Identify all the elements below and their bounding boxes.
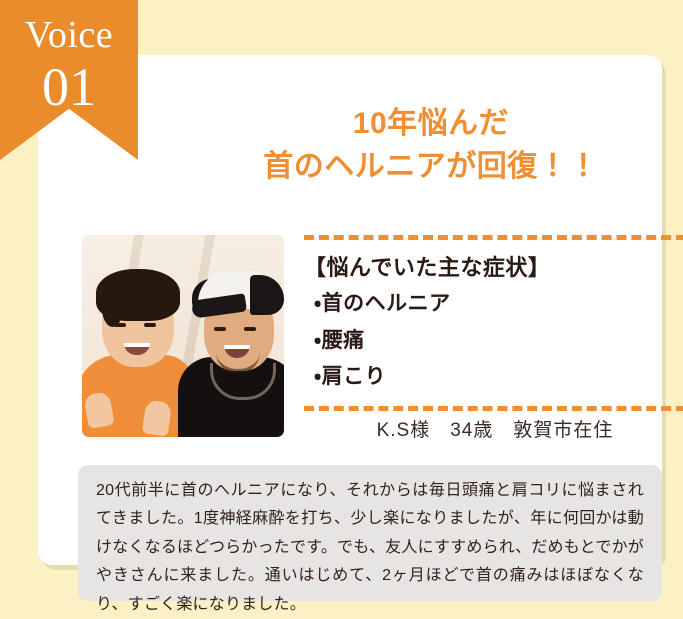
symptoms-panel: 【悩んでいた主な症状】 ・首のヘルニア ・腰痛 ・肩こり [304,235,683,411]
symptom-item-3: ・肩こり [314,361,683,394]
customer-photo [82,235,284,437]
photo-image [82,235,284,437]
person-left-hand-right [142,399,172,436]
headline-line-2: 首のヘルニアが回復！！ [176,146,683,189]
person-left-hair [96,269,180,321]
symptoms-heading: 【悩んでいた主な症状】 [304,250,683,282]
testimonial-text: 20代前半に首のヘルニアになり、それからは毎日頭痛と肩コリに悩まされてきました。… [96,477,644,619]
ribbon-label: Voice [0,0,138,54]
person-right-eye-right [244,327,256,331]
symptom-item-1: ・首のヘルニア [314,288,683,321]
person-right-eye-left [214,327,226,331]
person-left-eye-left [114,323,126,327]
symptom-item-2: ・腰痛 [314,325,683,358]
page-root: 10年悩んだ 首のヘルニアが回復！！ [0,0,683,580]
divider-bottom [304,406,683,411]
person-left-eye-right [144,323,156,327]
customer-attribution: K.S様 34歳 敦賀市在住 [304,415,683,442]
person-right-cap-right-panel [250,275,284,315]
testimonial-box: 20代前半に首のヘルニアになり、それからは毎日頭痛と肩コリに悩まされてきました。… [78,465,662,601]
symptoms-content: 【悩んでいた主な症状】 ・首のヘルニア ・腰痛 ・肩こり [304,240,683,406]
ribbon-number: 01 [0,54,138,114]
page-title: 10年悩んだ 首のヘルニアが回復！！ [176,103,683,188]
headline-line-1: 10年悩んだ [353,107,509,140]
